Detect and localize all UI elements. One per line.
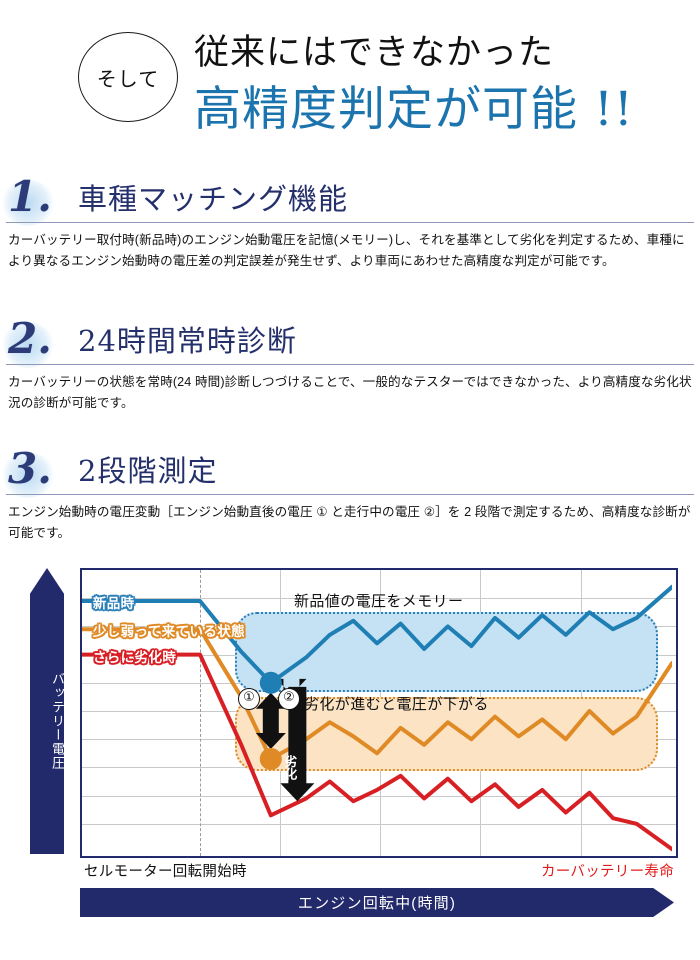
feature-2-heading: 2. 24時間常時診断	[0, 318, 700, 372]
annotation-step1-number: ①	[238, 688, 260, 710]
legend-item-degraded: さらに劣化時	[91, 646, 178, 666]
headline-secondary: 高精度判定が可能 !!	[194, 70, 634, 139]
legend-item-weakening: 少し弱って来ている状態	[91, 620, 247, 640]
annotation-memory-label: 新品値の電圧をメモリー	[294, 590, 463, 611]
headline-primary: 従来にはできなかった	[194, 24, 554, 75]
feature-section-3: 3. 2段階測定 エンジン始動時の電圧変動［エンジン始動直後の電圧 ① と走行中…	[0, 448, 700, 502]
feature-2-number: 2.	[8, 314, 52, 363]
feature-1-divider	[6, 222, 694, 223]
feature-1-number: 1.	[8, 172, 52, 221]
feature-2-divider	[6, 364, 694, 365]
annotation-step2-number: ②	[278, 688, 300, 710]
page-header: そして 従来にはできなかった 高精度判定が可能 !!	[0, 0, 700, 160]
legend-item-new: 新品時	[91, 592, 137, 612]
feature-1-title: 車種マッチング機能	[78, 176, 348, 218]
badge-oval: そして	[78, 32, 178, 122]
feature-1-body: カーバッテリー取付時(新品時)のエンジン始動電圧を記憶(メモリー)し、それを基準…	[8, 230, 692, 272]
badge-label: そして	[97, 63, 159, 92]
annotation-degrade-label: 劣化	[283, 753, 296, 781]
feature-3-body: エンジン始動時の電圧変動［エンジン始動直後の電圧 ① と走行中の電圧 ②］を 2…	[8, 502, 692, 544]
data-marker-0	[260, 672, 282, 694]
feature-3-title: 2段階測定	[78, 448, 217, 490]
feature-2-body: カーバッテリーの状態を常時(24 時間)診断しつづけることで、一般的なテスターで…	[8, 372, 692, 414]
feature-3-divider	[6, 494, 694, 495]
annotation-step2-label: 劣化が進むと電圧が下がる	[304, 693, 489, 714]
x-axis-label: エンジン回転中(時間)	[298, 892, 456, 913]
data-marker-1	[260, 748, 282, 770]
feature-section-2: 2. 24時間常時診断 カーバッテリーの状態を常時(24 時間)診断しつづけるこ…	[0, 318, 700, 372]
x-axis-start-caption: セルモーター回転開始時	[84, 860, 247, 881]
feature-1-heading: 1. 車種マッチング機能	[0, 176, 700, 230]
x-axis-end-caption: カーバッテリー寿命	[541, 860, 674, 881]
y-axis-label: バッテリー電圧	[30, 636, 64, 806]
feature-2-title: 24時間常時診断	[78, 318, 297, 360]
feature-section-1: 1. 車種マッチング機能 カーバッテリー取付時(新品時)のエンジン始動電圧を記憶…	[0, 176, 700, 230]
x-axis-band: エンジン回転中(時間)	[80, 888, 674, 917]
chart-plot-area: 新品時 少し弱って来ている状態 さらに劣化時 新品値の電圧をメモリー 劣化が進む…	[80, 568, 678, 858]
feature-3-number: 3.	[8, 444, 52, 493]
feature-3-heading: 3. 2段階測定	[0, 448, 700, 502]
battery-voltage-chart: バッテリー電圧 新品時 少し弱って来ている状態 さらに劣化時 新品値の電圧をメモ…	[0, 560, 700, 960]
